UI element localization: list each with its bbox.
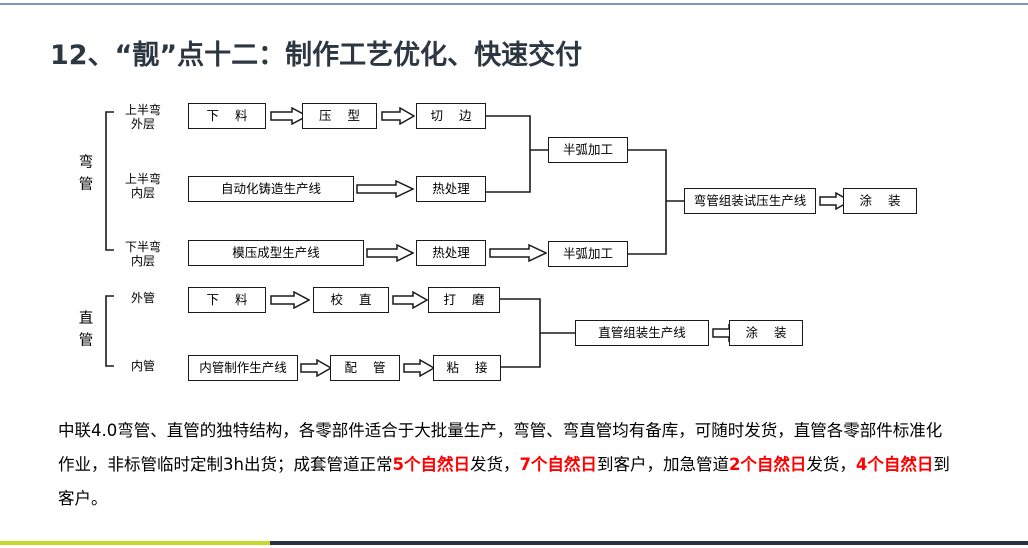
paragraph-highlight-3: 2个自然日 <box>729 455 806 474</box>
arrow-bend-r3-2 <box>489 244 547 262</box>
branch-label-inner-tube: 内管 <box>112 359 174 373</box>
node-straight-coating[interactable]: 涂 装 <box>729 320 803 346</box>
arrow-bend-r3-1 <box>366 244 414 262</box>
node-straight-piping[interactable]: 配 管 <box>330 355 400 381</box>
bottom-progress-indicator <box>0 541 270 545</box>
branch-label-upper-outer: 上半弯 外层 <box>112 103 174 131</box>
node-straight-grinding[interactable]: 打 磨 <box>428 287 500 313</box>
node-bend-assembly-pressure-test-line[interactable]: 弯管组装试压生产线 <box>684 188 816 214</box>
arrow-straight-r1-1 <box>270 291 310 309</box>
branch-label-upper-inner: 上半弯 内层 <box>112 172 174 200</box>
node-straight-cutting[interactable]: 下 料 <box>188 287 266 313</box>
node-bend-heat-treatment-upper[interactable]: 热处理 <box>416 176 486 202</box>
paragraph-segment-2: 发货， <box>470 455 520 474</box>
group-label-straight-pipe: 直 管 <box>74 308 98 353</box>
slide-canvas: 12、“靓”点十二：制作工艺优化、快速交付 弯 管 直 管 <box>0 0 1028 548</box>
arrow-straight-r1-2 <box>392 291 428 309</box>
arrow-straight-r2-2 <box>403 359 435 377</box>
branch-label-outer-tube: 外管 <box>112 291 174 305</box>
paragraph-highlight-4: 4个自然日 <box>856 455 933 474</box>
branch-label-lower-inner: 下半弯 内层 <box>112 240 174 268</box>
node-arc-machining-lower[interactable]: 半弧加工 <box>548 241 628 267</box>
node-straight-assembly-line[interactable]: 直管组装生产线 <box>575 320 709 346</box>
node-bend-pressing[interactable]: 压 型 <box>302 103 377 129</box>
node-inner-tube-production-line[interactable]: 内管制作生产线 <box>188 355 298 381</box>
node-bend-moulding-line[interactable]: 模压成型生产线 <box>188 240 364 266</box>
node-bend-coating[interactable]: 涂 装 <box>843 188 917 214</box>
paragraph-segment-3: 到客户，加急管道 <box>597 455 729 474</box>
arrow-bend-r1-2 <box>381 107 415 125</box>
node-bend-cutting[interactable]: 下 料 <box>188 103 266 129</box>
node-bend-heat-treatment-lower[interactable]: 热处理 <box>416 240 486 266</box>
node-bend-trimming[interactable]: 切 边 <box>416 103 486 129</box>
group-label-bent-pipe: 弯 管 <box>74 152 98 197</box>
node-arc-machining-upper[interactable]: 半弧加工 <box>548 137 628 163</box>
process-flowchart: 弯 管 直 管 上半弯 外层 上半弯 内层 下半弯 内层 外管 内管 下 料 压… <box>0 0 1028 400</box>
description-paragraph: 中联4.0弯管、直管的独特结构，各零部件适合于大批量生产，弯管、弯直管均有备库，… <box>58 414 958 516</box>
arrow-straight-r2-1 <box>300 359 332 377</box>
paragraph-segment-4: 发货， <box>806 455 856 474</box>
paragraph-highlight-2: 7个自然日 <box>519 455 596 474</box>
node-straight-bonding[interactable]: 粘 接 <box>433 355 501 381</box>
node-bend-auto-casting-line[interactable]: 自动化铸造生产线 <box>188 176 354 202</box>
paragraph-highlight-1: 5个自然日 <box>392 455 469 474</box>
arrow-bend-r2-1 <box>356 180 414 198</box>
node-straight-straightening[interactable]: 校 直 <box>313 287 389 313</box>
